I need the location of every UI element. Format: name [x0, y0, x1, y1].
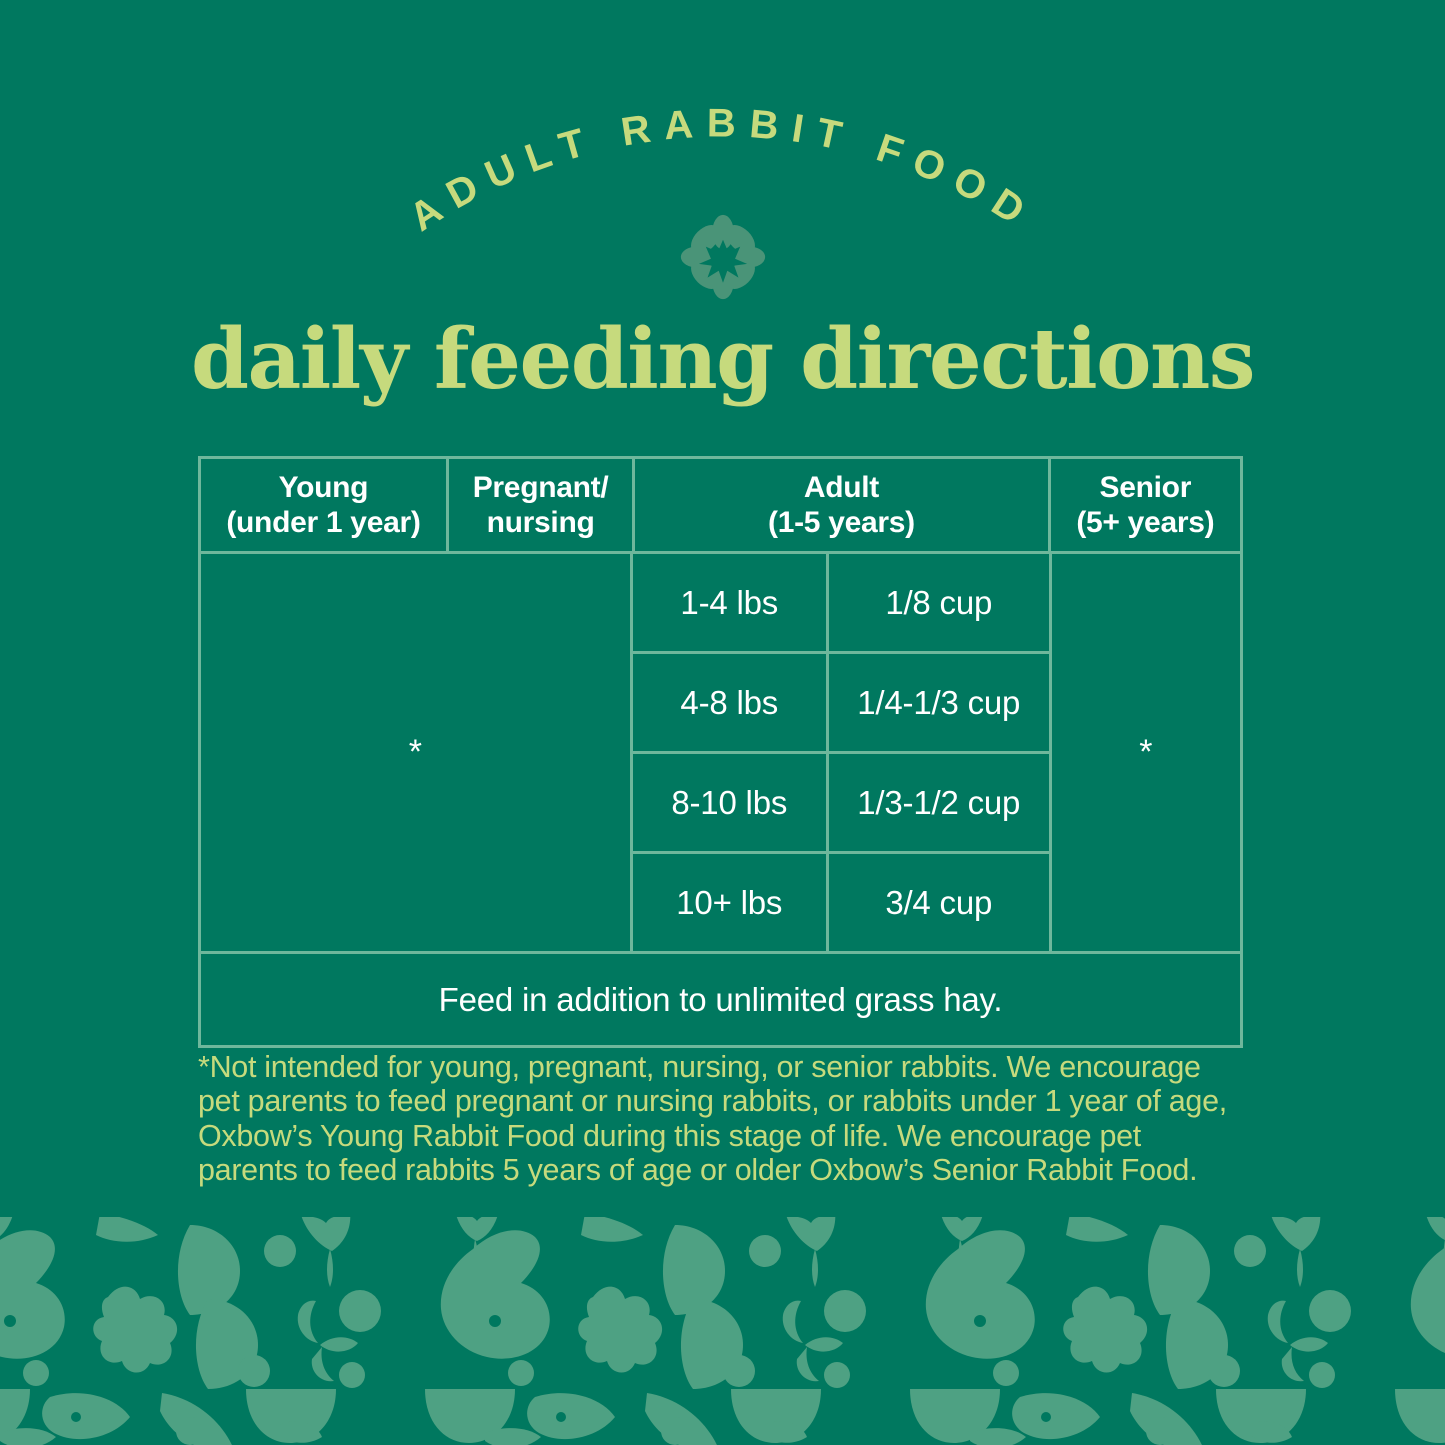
adult-weight-cell: 4-8 lbs [633, 654, 829, 751]
column-header-senior-line1: Senior [1076, 470, 1214, 505]
column-header-young-line2: (under 1 year) [226, 505, 420, 540]
table-body: * 1-4 lbs 1/8 cup 4-8 lbs 1/4-1/3 cup 8-… [201, 551, 1240, 951]
cell-senior-asterisk: * [1052, 554, 1240, 951]
column-header-adult-line1: Adult [768, 470, 915, 505]
table-row: 10+ lbs 3/4 cup [633, 854, 1049, 951]
adult-weight-cell: 10+ lbs [633, 854, 829, 951]
adult-amount-cell: 1/8 cup [829, 554, 1049, 651]
pattern-tile-3 [910, 1217, 1351, 1445]
adult-weight-cell: 8-10 lbs [633, 754, 829, 851]
table-footer-note: Feed in addition to unlimited grass hay. [201, 951, 1240, 1045]
pattern-tile-4 [1395, 1217, 1445, 1445]
table-row: 8-10 lbs 1/3-1/2 cup [633, 754, 1049, 854]
adult-weight-cell: 1-4 lbs [633, 554, 829, 651]
table-row: 4-8 lbs 1/4-1/3 cup [633, 654, 1049, 754]
table-header-row: Young (under 1 year) Pregnant/ nursing A… [201, 459, 1240, 551]
adult-amount-cell: 3/4 cup [829, 854, 1049, 951]
flower-rosette-icon [680, 214, 766, 300]
feeding-directions-panel: ADULT RABBIT FOOD daily feedin [0, 0, 1445, 1445]
feeding-table: Young (under 1 year) Pregnant/ nursing A… [198, 456, 1243, 1048]
cell-young-pregnant-asterisk: * [201, 554, 633, 951]
column-header-senior-line2: (5+ years) [1076, 505, 1214, 540]
pattern-tile-1 [0, 1217, 381, 1445]
column-header-young: Young (under 1 year) [201, 459, 449, 551]
column-header-adult: Adult (1-5 years) [635, 459, 1050, 551]
rabbit-leaf-flower-pattern-band [0, 1217, 1445, 1445]
adult-amount-cell: 1/4-1/3 cup [829, 654, 1049, 751]
page-title: daily feeding directions [0, 318, 1445, 401]
column-header-pregnant: Pregnant/ nursing [449, 459, 635, 551]
column-header-adult-line2: (1-5 years) [768, 505, 915, 540]
pattern-tile-2 [425, 1217, 866, 1445]
footnote-text: *Not intended for young, pregnant, nursi… [198, 1050, 1246, 1188]
column-header-pregnant-line1: Pregnant/ [473, 470, 609, 505]
adult-subtable: 1-4 lbs 1/8 cup 4-8 lbs 1/4-1/3 cup 8-10… [633, 554, 1052, 951]
adult-amount-cell: 1/3-1/2 cup [829, 754, 1049, 851]
column-header-pregnant-line2: nursing [473, 505, 609, 540]
table-row: 1-4 lbs 1/8 cup [633, 554, 1049, 654]
column-header-senior: Senior (5+ years) [1051, 459, 1240, 551]
column-header-young-line1: Young [226, 470, 420, 505]
pattern-band-svg [0, 1217, 1445, 1445]
flower-rosette-svg [680, 214, 766, 300]
